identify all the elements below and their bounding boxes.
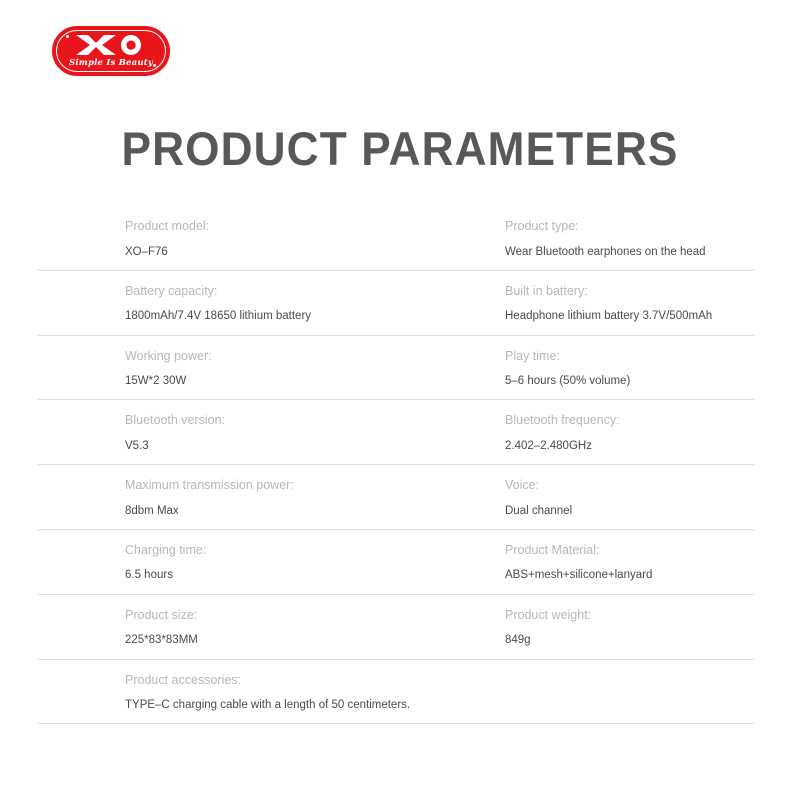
spec-value: 2.402–2.480GHz xyxy=(505,438,755,454)
page-title: PRODUCT PARAMETERS xyxy=(24,121,776,176)
spec-label: Voice: xyxy=(505,477,755,495)
spec-cell-right: Voice: Dual channel xyxy=(417,465,755,530)
spec-cell-left: Charging time: 6.5 hours xyxy=(37,530,417,595)
table-row-full-width: Product accessories: TYPE–C charging cab… xyxy=(37,660,755,725)
logo-xo-mark xyxy=(52,33,170,57)
spec-label: Product size: xyxy=(125,607,417,625)
spec-label: Play time: xyxy=(505,348,755,366)
spec-value: XO–F76 xyxy=(125,244,417,260)
spec-label: Working power: xyxy=(125,348,417,366)
spec-label: Product weight: xyxy=(505,607,755,625)
spec-value: V5.3 xyxy=(125,438,417,454)
spec-value: Wear Bluetooth earphones on the head xyxy=(505,244,755,260)
spec-value: ABS+mesh+silicone+lanyard xyxy=(505,567,755,583)
spec-cell-left: Working power: 15W*2 30W xyxy=(37,336,417,401)
spec-label: Product type: xyxy=(505,218,755,236)
spec-value: Headphone lithium battery 3.7V/500mAh xyxy=(505,308,755,324)
spec-value: 849g xyxy=(505,632,755,648)
spec-value: 6.5 hours xyxy=(125,567,417,583)
table-row: Battery capacity: 1800mAh/7.4V 18650 lit… xyxy=(37,271,755,336)
spec-cell-left: Product model: XO–F76 xyxy=(37,206,417,271)
spec-label: Charging time: xyxy=(125,542,417,560)
spec-label: Maximum transmission power: xyxy=(125,477,417,495)
spec-cell-right: Product weight: 849g xyxy=(417,595,755,660)
spec-label: Product model: xyxy=(125,218,417,236)
row-divider xyxy=(37,723,755,724)
spec-cell-right: Play time: 5–6 hours (50% volume) xyxy=(417,336,755,401)
spec-cell-left: Bluetooth version: V5.3 xyxy=(37,400,417,465)
logo-tagline: Simple Is Beauty xyxy=(52,58,170,68)
table-row: Maximum transmission power: 8dbm Max Voi… xyxy=(37,465,755,530)
spec-cell-left: Maximum transmission power: 8dbm Max xyxy=(37,465,417,530)
spec-value: TYPE–C charging cable with a length of 5… xyxy=(125,697,755,713)
spec-label: Bluetooth version: xyxy=(125,412,417,430)
spec-cell-right: Built in battery: Headphone lithium batt… xyxy=(417,271,755,336)
table-row: Charging time: 6.5 hours Product Materia… xyxy=(37,530,755,595)
product-parameters-table: Product model: XO–F76 Product type: Wear… xyxy=(37,206,755,724)
spec-label: Battery capacity: xyxy=(125,283,417,301)
table-row: Product size: 225*83*83MM Product weight… xyxy=(37,595,755,660)
spec-value: 1800mAh/7.4V 18650 lithium battery xyxy=(125,308,417,324)
table-row: Bluetooth version: V5.3 Bluetooth freque… xyxy=(37,400,755,465)
spec-cell-full: Product accessories: TYPE–C charging cab… xyxy=(37,660,755,725)
spec-cell-right: Product Material: ABS+mesh+silicone+lany… xyxy=(417,530,755,595)
spec-label: Bluetooth frequency: xyxy=(505,412,755,430)
spec-value: 8dbm Max xyxy=(125,503,417,519)
spec-value: 15W*2 30W xyxy=(125,373,417,389)
spec-label: Product Material: xyxy=(505,542,755,560)
spec-value: 225*83*83MM xyxy=(125,632,417,648)
spec-cell-left: Product size: 225*83*83MM xyxy=(37,595,417,660)
spec-label: Built in battery: xyxy=(505,283,755,301)
spec-value: Dual channel xyxy=(505,503,755,519)
spec-cell-left: Battery capacity: 1800mAh/7.4V 18650 lit… xyxy=(37,271,417,336)
spec-label: Product accessories: xyxy=(125,672,755,690)
spec-cell-right: Bluetooth frequency: 2.402–2.480GHz xyxy=(417,400,755,465)
brand-logo: Simple Is Beauty xyxy=(52,26,170,76)
table-row: Product model: XO–F76 Product type: Wear… xyxy=(37,206,755,271)
spec-cell-right: Product type: Wear Bluetooth earphones o… xyxy=(417,206,755,271)
spec-value: 5–6 hours (50% volume) xyxy=(505,373,755,389)
table-row: Working power: 15W*2 30W Play time: 5–6 … xyxy=(37,336,755,401)
